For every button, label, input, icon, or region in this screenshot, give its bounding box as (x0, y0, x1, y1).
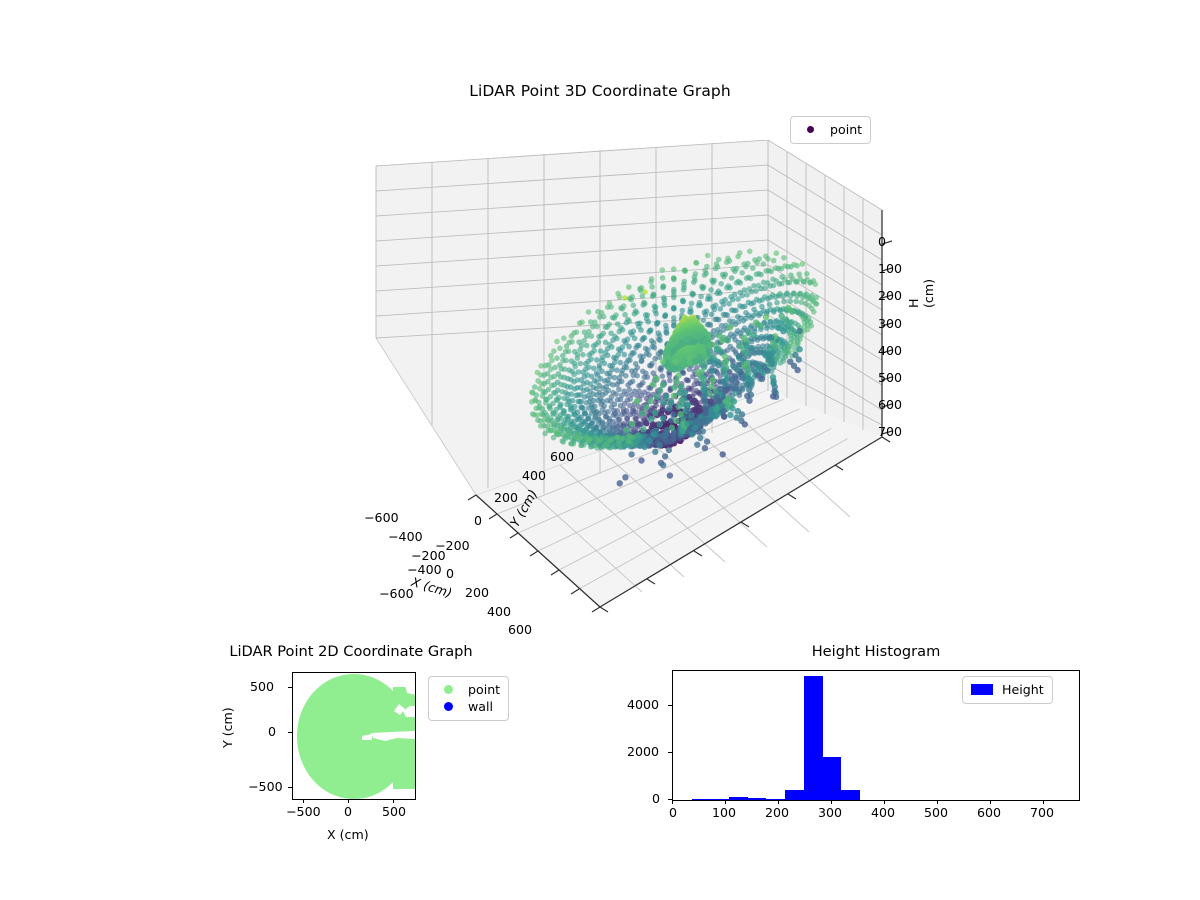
point-marker (676, 372, 682, 378)
point-marker (580, 369, 586, 375)
point-marker (779, 274, 785, 280)
point-marker (709, 368, 715, 374)
point-marker (730, 347, 736, 353)
point-marker (650, 405, 656, 411)
point-marker (660, 382, 666, 388)
y-tickmark (668, 752, 672, 753)
x-tickmark (348, 799, 349, 803)
point-marker (582, 329, 588, 335)
point-marker (619, 412, 625, 418)
point-marker (671, 393, 677, 399)
point-marker (540, 393, 546, 399)
panel-hist-title: Height Histogram (672, 643, 1080, 660)
point-marker (660, 462, 666, 468)
point-marker (735, 314, 741, 320)
point-marker (657, 442, 663, 448)
point-marker (591, 343, 597, 349)
point-marker (627, 387, 633, 393)
x-tickmark (393, 799, 394, 803)
point-marker (761, 364, 767, 370)
point-marker (663, 323, 669, 329)
point-marker (729, 275, 735, 281)
point-marker (664, 427, 670, 433)
point-marker (721, 413, 727, 419)
point-marker (707, 358, 713, 364)
point-marker (603, 340, 609, 346)
point-marker (551, 435, 557, 441)
point-marker (617, 375, 623, 381)
point-marker (698, 414, 704, 420)
point-marker (759, 297, 765, 303)
point-marker (744, 292, 750, 298)
point-marker (771, 309, 777, 315)
point-marker (715, 264, 721, 270)
point-marker (608, 330, 614, 336)
point-marker (785, 280, 791, 286)
legend-entry-point[interactable]: point (799, 121, 862, 138)
point-marker (621, 338, 627, 344)
point-marker (632, 388, 638, 394)
point-marker (620, 368, 626, 374)
point-marker (604, 371, 610, 377)
point-marker (578, 404, 584, 410)
point-marker (742, 421, 748, 427)
y-tickmark (288, 687, 292, 688)
point-marker (626, 284, 632, 290)
point-marker (756, 256, 762, 262)
point-marker (650, 370, 656, 376)
x-tickmark (1043, 800, 1044, 804)
point-marker (746, 329, 752, 335)
point-marker (705, 253, 711, 259)
point-marker (600, 354, 606, 360)
point-marker (781, 255, 787, 261)
point-marker (662, 453, 668, 459)
point-marker (761, 280, 767, 286)
point-marker (716, 317, 722, 323)
point-marker (560, 353, 566, 359)
point-marker (596, 438, 602, 444)
point-marker (689, 431, 695, 437)
point-marker (622, 312, 628, 318)
point-marker (694, 442, 700, 448)
legend-entry-point[interactable]: point (437, 681, 500, 698)
point-marker (643, 346, 649, 352)
point-marker (745, 261, 751, 267)
point-marker (604, 441, 610, 447)
point-marker (771, 258, 777, 264)
point-marker (654, 321, 660, 327)
point-marker (777, 281, 783, 287)
point-marker (781, 358, 787, 364)
point-marker (610, 390, 616, 396)
point-marker (698, 294, 704, 300)
wall-marker-icon (437, 702, 459, 711)
legend-3d[interactable]: point (790, 116, 871, 144)
point-marker (688, 309, 694, 315)
x-tickmark (831, 800, 832, 804)
point-marker (751, 307, 757, 313)
point-marker (730, 358, 736, 364)
point-marker (617, 329, 623, 335)
point-marker (542, 431, 548, 437)
point-marker (533, 406, 539, 412)
point-marker (740, 328, 746, 334)
point-marker (622, 474, 628, 480)
point-marker (737, 250, 743, 256)
point-marker (548, 353, 554, 359)
point-marker (660, 415, 666, 421)
point-marker (719, 323, 725, 329)
point-marker (644, 351, 650, 357)
point-marker (749, 315, 755, 321)
point-marker (629, 421, 635, 427)
point-marker (697, 302, 703, 308)
point-marker (692, 425, 698, 431)
legend-2d[interactable]: point wall (428, 676, 509, 721)
point-marker (671, 315, 677, 321)
point-marker (713, 395, 719, 401)
point-marker (660, 358, 666, 364)
point-marker (742, 287, 748, 293)
point-marker (557, 362, 563, 368)
point-marker (743, 342, 749, 348)
point-marker (616, 346, 622, 352)
point-marker (727, 258, 733, 264)
legend-entry-height[interactable]: Height (971, 681, 1044, 698)
point-marker (632, 311, 638, 317)
histogram-bar (823, 757, 842, 800)
histogram-bar (841, 790, 860, 800)
point-marker (622, 389, 628, 395)
point-marker (800, 261, 806, 267)
point-marker (717, 290, 723, 296)
point-marker (744, 382, 750, 388)
point-marker (740, 387, 746, 393)
point-marker (683, 336, 690, 343)
point-marker (650, 294, 656, 300)
point-marker (731, 364, 737, 370)
matplotlib-figure: LiDAR Point 3D Coordinate Graph (0, 0, 1200, 900)
point-marker (675, 404, 681, 410)
point-marker (765, 256, 771, 262)
point-marker (529, 390, 535, 396)
point-marker (561, 335, 567, 341)
point-marker (667, 472, 673, 478)
point-marker (671, 287, 677, 293)
point-marker (763, 314, 769, 320)
point-marker (641, 444, 647, 450)
x-tickmark (778, 800, 779, 804)
point-marker (595, 422, 601, 428)
point-marker (594, 370, 600, 376)
point-marker (700, 428, 706, 434)
point-marker (646, 329, 652, 335)
point-marker (739, 270, 745, 276)
point-marker (731, 398, 737, 404)
point-marker (596, 334, 602, 340)
point-marker (776, 325, 782, 331)
point-marker (721, 408, 727, 414)
point-marker (733, 322, 739, 328)
point-marker (749, 289, 755, 295)
point-marker (774, 318, 780, 324)
point-marker (725, 396, 731, 402)
point-marker (804, 291, 810, 297)
histogram-bar (785, 790, 804, 800)
point-marker (761, 336, 767, 342)
point-marker (748, 276, 754, 282)
point-marker (642, 389, 648, 395)
point-marker (670, 432, 676, 438)
point-marker (616, 387, 622, 393)
point-marker (671, 322, 677, 328)
point-marker (679, 428, 685, 434)
point-marker (717, 386, 723, 392)
point-marker (722, 297, 728, 303)
point-marker (720, 366, 726, 372)
point-marker (671, 384, 677, 390)
point-marker (648, 416, 654, 422)
legend-histogram[interactable]: Height (962, 676, 1053, 704)
point-marker (677, 411, 683, 417)
point-marker (573, 393, 579, 399)
height-patch-icon (971, 684, 993, 695)
point-marker (656, 330, 662, 336)
point-marker (703, 271, 709, 277)
point-marker (605, 346, 611, 352)
point-marker (788, 264, 794, 270)
point-marker (586, 405, 592, 411)
point-marker (649, 338, 655, 344)
point-marker (668, 400, 674, 406)
point-marker (739, 411, 745, 417)
point-marker (611, 355, 617, 361)
point-marker (685, 407, 691, 413)
point-marker (747, 249, 753, 255)
legend-entry-wall[interactable]: wall (437, 698, 500, 715)
point-marker (616, 440, 622, 446)
point-marker (664, 348, 671, 355)
point-marker (751, 283, 757, 289)
point-marker (756, 313, 762, 319)
point-marker (673, 418, 679, 424)
point-marker (660, 399, 666, 405)
point-marker (537, 386, 543, 392)
point-marker (704, 438, 710, 444)
point-marker (768, 295, 774, 301)
point-marker (699, 347, 705, 353)
histogram-bar (748, 798, 767, 800)
point-marker (758, 286, 764, 292)
x-tickmark (303, 799, 304, 803)
histogram-bar (804, 676, 823, 800)
point-marker (586, 309, 592, 315)
point-marker (732, 391, 738, 397)
point-marker (605, 398, 611, 404)
point-marker (603, 324, 609, 330)
point-marker (576, 435, 582, 441)
point-marker (668, 438, 674, 444)
point-marker (767, 345, 773, 351)
point-marker (781, 299, 787, 305)
point-marker (595, 309, 601, 315)
point-marker (671, 292, 677, 298)
point-marker (768, 283, 774, 289)
point-marker (631, 303, 637, 309)
point-marker (678, 384, 684, 390)
point-marker (648, 398, 654, 404)
point-marker (660, 373, 666, 379)
point-marker (778, 313, 784, 319)
point-marker (680, 308, 686, 314)
point-marker (724, 312, 730, 318)
point-marker (727, 318, 733, 324)
point-marker (729, 376, 735, 382)
point-marker (734, 266, 740, 272)
point-marker (753, 319, 759, 325)
point-marker (768, 269, 774, 275)
point-marker (718, 306, 724, 312)
point-marker (625, 438, 631, 444)
point-marker (532, 384, 538, 390)
point-marker (680, 298, 686, 304)
point-marker (708, 322, 714, 328)
point-marker (814, 301, 820, 307)
point-marker (727, 324, 733, 330)
point-marker (701, 393, 707, 399)
point-marker (657, 421, 663, 427)
point-marker (709, 312, 715, 318)
point-marker (597, 362, 603, 368)
point-marker (657, 388, 663, 394)
point-marker (627, 403, 633, 409)
point-marker (737, 343, 743, 349)
point-marker (651, 431, 657, 437)
point-marker (704, 264, 710, 270)
point-marker (660, 267, 666, 273)
point-marker (767, 302, 773, 308)
point-marker (681, 285, 687, 291)
point-marker (561, 439, 567, 445)
point-marker (654, 393, 660, 399)
point-marker (634, 398, 640, 404)
point-marker (682, 390, 688, 396)
point-marker (548, 428, 554, 434)
panel-2d-y-axis-label: Y (cm) (222, 707, 235, 748)
page-title: LiDAR Point 3D Coordinate Graph (0, 82, 1200, 100)
point-marker (744, 393, 750, 399)
point-marker (720, 451, 726, 457)
point-marker (569, 358, 575, 364)
point-marker (547, 406, 553, 412)
y-tickmark (668, 705, 672, 706)
point-marker (590, 418, 596, 424)
point-marker (607, 363, 613, 369)
point-marker (554, 355, 560, 361)
point-marker (689, 386, 695, 392)
point-marker (678, 397, 684, 403)
point-marker (741, 335, 747, 341)
point-marker (661, 295, 667, 301)
point-marker (611, 444, 617, 450)
point-marker (768, 319, 774, 325)
point-marker (699, 369, 705, 375)
point-marker (740, 293, 746, 299)
point-marker (762, 352, 768, 358)
point-marker (639, 410, 645, 416)
point-marker (579, 443, 585, 449)
point-marker (575, 399, 581, 405)
point-marker (750, 265, 756, 271)
point-marker (671, 266, 677, 272)
point-marker (727, 285, 733, 291)
point-marker (784, 291, 790, 297)
point-marker (683, 421, 689, 427)
x-tickmark (672, 800, 673, 804)
panel-2d-x-axis-label: X (cm) (327, 829, 369, 842)
point-marker (643, 404, 649, 410)
point-marker (661, 300, 667, 306)
point-marker (648, 279, 654, 285)
y-tickmark (288, 787, 292, 788)
point-marker (610, 337, 616, 343)
point-marker (690, 394, 696, 400)
point-marker (776, 293, 782, 299)
y-tickmark (288, 732, 292, 733)
point-marker (702, 445, 708, 451)
point-marker (626, 433, 632, 439)
point-marker (692, 278, 698, 284)
point-marker (704, 308, 710, 314)
point-marker (727, 412, 733, 418)
point-marker (624, 320, 630, 326)
point-marker (549, 422, 555, 428)
point-marker (691, 338, 698, 345)
point-marker (534, 412, 540, 418)
point-marker (761, 261, 767, 267)
point-marker (741, 318, 747, 324)
point-marker (730, 297, 736, 303)
point-marker (672, 358, 678, 364)
point-marker (755, 372, 761, 378)
point-marker (577, 320, 583, 326)
point-marker (543, 400, 549, 406)
point-marker (701, 405, 707, 411)
point-marker (796, 328, 802, 334)
point-marker (586, 352, 592, 358)
point-marker (707, 296, 713, 302)
point-marker (618, 360, 624, 366)
point-marker (667, 378, 673, 384)
point-marker (633, 416, 639, 422)
point-marker (791, 291, 797, 297)
point-marker (785, 305, 791, 311)
point-marker (529, 399, 535, 405)
panel-2d-title: LiDAR Point 2D Coordinate Graph (209, 643, 493, 660)
point-marker (663, 394, 669, 400)
point-marker (788, 298, 794, 304)
point-marker (672, 338, 679, 345)
point-marker (794, 263, 800, 269)
point-marker (694, 260, 700, 266)
point-marker (538, 363, 544, 369)
point-marker (615, 291, 621, 297)
point-marker (686, 354, 692, 360)
point-marker (657, 366, 663, 372)
point-marker (689, 301, 695, 307)
point-marker (636, 383, 642, 389)
